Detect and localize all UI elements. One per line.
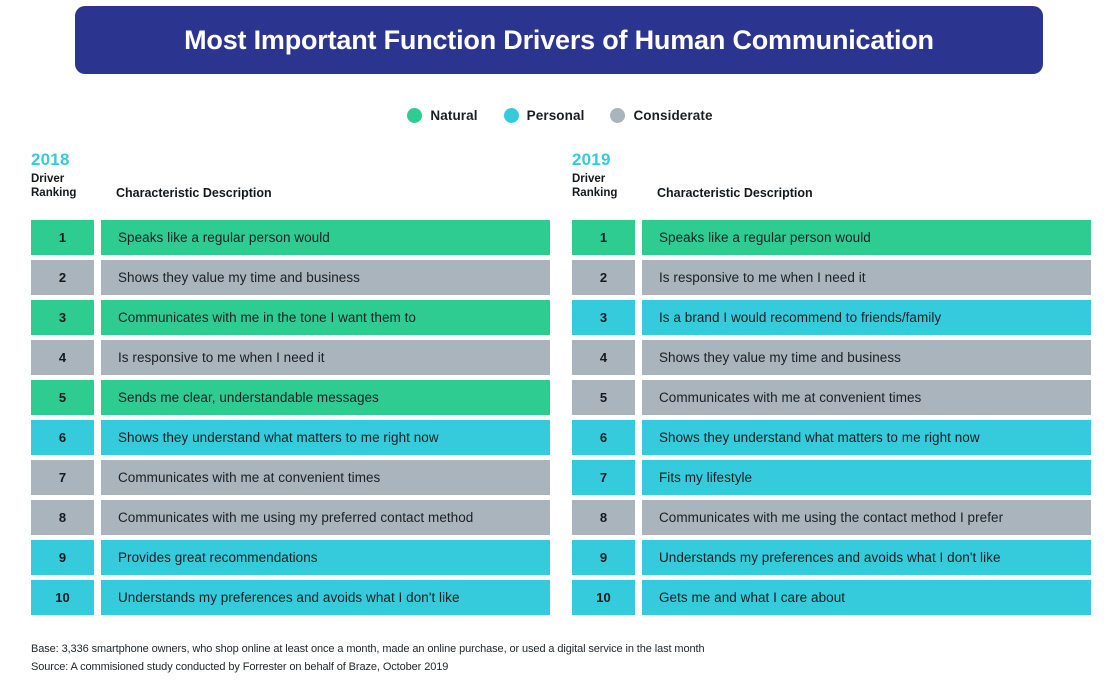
legend: NaturalPersonalConsiderate: [0, 108, 1120, 123]
circle-icon: [504, 108, 519, 123]
rank-cell: 7: [31, 460, 94, 495]
table-row: 3Communicates with me in the tone I want…: [31, 300, 550, 335]
rank-cell: 1: [572, 220, 635, 255]
table-row: 2Shows they value my time and business: [31, 260, 550, 295]
header-driver-ranking-line1: Driver: [572, 172, 662, 186]
rank-cell: 1: [31, 220, 94, 255]
rank-cell: 8: [31, 500, 94, 535]
description-cell: Communicates with me at convenient times: [101, 460, 550, 495]
table-row: 2Is responsive to me when I need it: [572, 260, 1091, 295]
rank-cell: 8: [572, 500, 635, 535]
footnote-2: Source: A commisioned study conducted by…: [31, 658, 1081, 676]
infographic-page: Most Important Function Drivers of Human…: [0, 0, 1120, 700]
table-row: 5Communicates with me at convenient time…: [572, 380, 1091, 415]
table-column-2019: 2019DriverRankingCharacteristic Descript…: [572, 150, 1091, 620]
table-row: 8Communicates with me using my preferred…: [31, 500, 550, 535]
header-driver-ranking-line1: Driver: [31, 172, 121, 186]
table-row: 4Is responsive to me when I need it: [31, 340, 550, 375]
legend-item-considerate: Considerate: [610, 108, 712, 123]
legend-item-label: Natural: [430, 108, 477, 123]
footnotes: Base: 3,336 smartphone owners, who shop …: [31, 640, 1081, 676]
rank-cell: 3: [572, 300, 635, 335]
table-row: 7Communicates with me at convenient time…: [31, 460, 550, 495]
table-rows: 1Speaks like a regular person would2Show…: [31, 220, 550, 615]
legend-item-natural: Natural: [407, 108, 477, 123]
header-characteristic-description: Characteristic Description: [657, 186, 813, 200]
table-row: 8Communicates with me using the contact …: [572, 500, 1091, 535]
title-banner: Most Important Function Drivers of Human…: [75, 6, 1043, 74]
rank-cell: 2: [572, 260, 635, 295]
table-row: 7Fits my lifestyle: [572, 460, 1091, 495]
description-cell: Communicates with me in the tone I want …: [101, 300, 550, 335]
description-cell: Gets me and what I care about: [642, 580, 1091, 615]
table-row: 9Provides great recommendations: [31, 540, 550, 575]
description-cell: Sends me clear, understandable messages: [101, 380, 550, 415]
description-cell: Is responsive to me when I need it: [642, 260, 1091, 295]
table-row: 3Is a brand I would recommend to friends…: [572, 300, 1091, 335]
legend-item-personal: Personal: [504, 108, 585, 123]
rank-cell: 10: [31, 580, 94, 615]
description-cell: Shows they value my time and business: [101, 260, 550, 295]
table-row: 1Speaks like a regular person would: [31, 220, 550, 255]
year-label: 2018: [31, 150, 550, 169]
header-characteristic-description: Characteristic Description: [116, 186, 272, 200]
rank-cell: 4: [31, 340, 94, 375]
description-cell: Shows they value my time and business: [642, 340, 1091, 375]
header-driver-ranking: DriverRanking: [572, 172, 662, 200]
header-driver-ranking-line2: Ranking: [31, 186, 121, 200]
description-cell: Communicates with me at convenient times: [642, 380, 1091, 415]
description-cell: Understands my preferences and avoids wh…: [642, 540, 1091, 575]
page-title: Most Important Function Drivers of Human…: [184, 25, 934, 56]
legend-item-label: Personal: [527, 108, 585, 123]
description-cell: Is a brand I would recommend to friends/…: [642, 300, 1091, 335]
rank-cell: 5: [31, 380, 94, 415]
table-row: 1Speaks like a regular person would: [572, 220, 1091, 255]
circle-icon: [610, 108, 625, 123]
description-cell: Provides great recommendations: [101, 540, 550, 575]
circle-icon: [407, 108, 422, 123]
description-cell: Fits my lifestyle: [642, 460, 1091, 495]
table-row: 4Shows they value my time and business: [572, 340, 1091, 375]
description-cell: Communicates with me using my preferred …: [101, 500, 550, 535]
description-cell: Is responsive to me when I need it: [101, 340, 550, 375]
rank-cell: 9: [572, 540, 635, 575]
table-row: 10Gets me and what I care about: [572, 580, 1091, 615]
table-row: 10Understands my preferences and avoids …: [31, 580, 550, 615]
column-headers: DriverRankingCharacteristic Description: [572, 172, 1091, 220]
rank-cell: 9: [31, 540, 94, 575]
rank-cell: 10: [572, 580, 635, 615]
description-cell: Shows they understand what matters to me…: [101, 420, 550, 455]
table-column-2018: 2018DriverRankingCharacteristic Descript…: [31, 150, 550, 620]
description-cell: Communicates with me using the contact m…: [642, 500, 1091, 535]
description-cell: Shows they understand what matters to me…: [642, 420, 1091, 455]
rank-cell: 6: [572, 420, 635, 455]
rank-cell: 3: [31, 300, 94, 335]
rank-cell: 6: [31, 420, 94, 455]
description-cell: Understands my preferences and avoids wh…: [101, 580, 550, 615]
rank-cell: 5: [572, 380, 635, 415]
footnote-1: Base: 3,336 smartphone owners, who shop …: [31, 640, 1081, 658]
table-row: 9Understands my preferences and avoids w…: [572, 540, 1091, 575]
rank-cell: 2: [31, 260, 94, 295]
description-cell: Speaks like a regular person would: [101, 220, 550, 255]
column-headers: DriverRankingCharacteristic Description: [31, 172, 550, 220]
year-label: 2019: [572, 150, 1091, 169]
table-row: 5Sends me clear, understandable messages: [31, 380, 550, 415]
rank-cell: 4: [572, 340, 635, 375]
rank-cell: 7: [572, 460, 635, 495]
table-rows: 1Speaks like a regular person would2Is r…: [572, 220, 1091, 615]
header-driver-ranking-line2: Ranking: [572, 186, 662, 200]
header-driver-ranking: DriverRanking: [31, 172, 121, 200]
table-row: 6Shows they understand what matters to m…: [572, 420, 1091, 455]
table-row: 6Shows they understand what matters to m…: [31, 420, 550, 455]
description-cell: Speaks like a regular person would: [642, 220, 1091, 255]
legend-item-label: Considerate: [633, 108, 712, 123]
